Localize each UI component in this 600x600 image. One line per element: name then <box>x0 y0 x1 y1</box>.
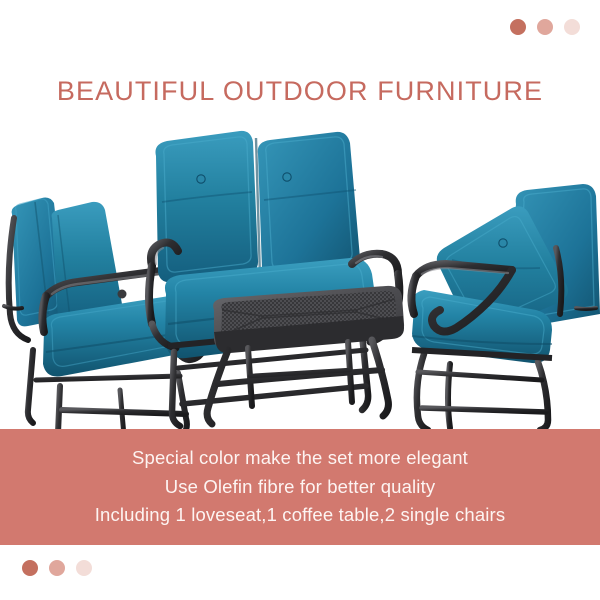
dot-dark-icon <box>510 19 526 35</box>
feature-line-3: Including 1 loveseat,1 coffee table,2 si… <box>95 503 505 528</box>
tuft-button <box>499 239 507 247</box>
feature-line-1: Special color make the set more elegant <box>132 446 468 471</box>
feature-band: Special color make the set more elegant … <box>0 429 600 545</box>
page-title: BEAUTIFUL OUTDOOR FURNITURE <box>0 76 600 107</box>
dot-light-icon <box>76 560 92 576</box>
product-photo <box>0 118 600 430</box>
product-marketing-image: BEAUTIFUL OUTDOOR FURNITURE <box>0 0 600 600</box>
decorative-dots-bottom <box>22 560 92 576</box>
dot-light-icon <box>564 19 580 35</box>
dot-medium-icon <box>49 560 65 576</box>
tuft-button <box>283 173 291 181</box>
dot-dark-icon <box>22 560 38 576</box>
decorative-dots-top <box>510 19 580 35</box>
tuft-button <box>197 175 205 183</box>
single-chair-right <box>411 184 600 430</box>
loveseat-back-cushions <box>155 131 360 282</box>
feature-line-2: Use Olefin fibre for better quality <box>165 475 436 500</box>
chair-bolt-left <box>118 290 127 299</box>
dot-medium-icon <box>537 19 553 35</box>
